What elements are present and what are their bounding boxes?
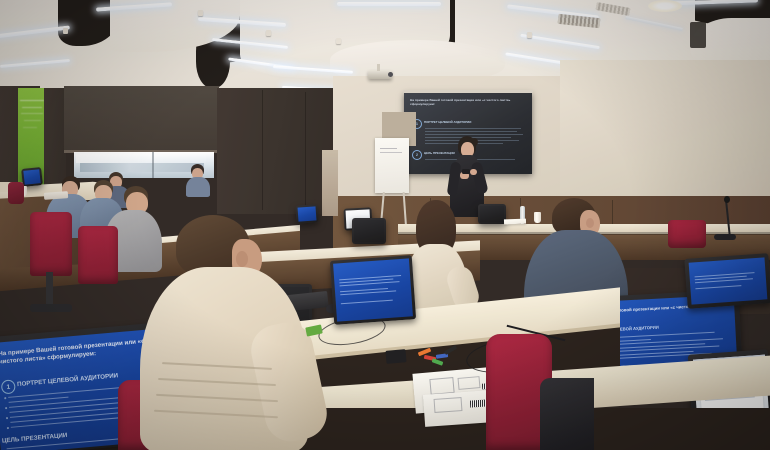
presenter-phone[interactable]	[462, 169, 470, 174]
slide-bullet-left-3	[6, 417, 8, 419]
flipchart-paper	[375, 138, 409, 193]
obj-phone[interactable]	[385, 349, 406, 364]
ceiling-sensor-2	[198, 10, 203, 16]
slide-bullet-left-1	[4, 397, 6, 399]
chair-left-2-base	[30, 304, 72, 312]
ceiling-sensor-4	[336, 38, 341, 44]
ceiling-sensor-3	[266, 30, 271, 36]
green-panel-reflection-1	[20, 100, 44, 101]
obj-microphone-base	[714, 234, 736, 240]
obj-papers-back	[504, 219, 526, 225]
training-room-photo: На примере Вашей готовой презентации или…	[0, 0, 770, 450]
projector-mount	[377, 64, 380, 71]
projection-body-line-3	[425, 134, 523, 135]
chair-left-2[interactable]	[30, 212, 72, 276]
green-panel-reflection-2	[22, 107, 42, 108]
slide-headline-mini	[693, 262, 759, 267]
projection-number-2: 2	[412, 150, 422, 160]
wall-left-dark-3	[217, 88, 335, 214]
flipchart-note-line-2	[380, 152, 402, 153]
projection-headline: На примере Вашей готовой презентации или…	[410, 98, 526, 106]
person-front-cream	[140, 215, 320, 450]
slide-bullet-left-2	[5, 407, 7, 409]
projection-body-line-1	[425, 128, 521, 129]
window-glare	[76, 154, 206, 163]
mon-left-small-screen	[23, 169, 40, 185]
roller-blind[interactable]	[64, 86, 219, 152]
obj-microphone-head	[724, 196, 730, 203]
mon-front-right-screen	[333, 258, 413, 321]
person-back-window-1	[186, 164, 210, 194]
green-panel-reflection-3	[21, 113, 43, 114]
slide-headline-left: На примере Вашей готовой презентации или…	[0, 338, 149, 367]
wall-corner-dark	[690, 22, 706, 48]
ceiling-downlight	[648, 0, 682, 12]
flipchart-note-line-1	[380, 148, 397, 149]
chair-left-1[interactable]	[8, 182, 24, 204]
ceiling-sensor-5	[527, 32, 532, 38]
ceiling-sensor-1	[63, 28, 68, 34]
slide-rt-line-6	[341, 300, 393, 305]
projection-body-line-2	[425, 131, 517, 132]
slide-mini-line-4	[695, 285, 741, 289]
projector-lens-icon	[388, 72, 393, 77]
person-ear-icon	[586, 218, 594, 228]
wall-seam-1	[262, 90, 263, 210]
projection-screen-frame	[403, 90, 533, 93]
mon-far-right-screen	[689, 257, 768, 304]
window-mullion	[152, 152, 154, 178]
wall-column-left	[322, 150, 338, 216]
presenter-hand-icon-2	[470, 169, 477, 175]
chair-right-2[interactable]	[668, 220, 706, 248]
person-torso	[186, 177, 210, 197]
handout-sketch-3	[434, 397, 463, 413]
green-panel-reflection-5	[23, 127, 37, 128]
mon-back-small-screen	[480, 206, 504, 222]
chair-left-2-stem	[46, 272, 53, 308]
slide-headline-right	[337, 263, 403, 268]
projection-heading-1: ПОРТРЕТ ЦЕЛЕВОЙ АУДИТОРИИ	[424, 120, 524, 124]
green-panel-reflection-4	[24, 120, 41, 121]
slide-bullet-left-4	[7, 427, 9, 429]
person-ear-icon	[236, 251, 248, 267]
light-tube-10	[337, 2, 441, 6]
chair-left-3[interactable]	[78, 226, 118, 284]
slide-number-1-left: 1	[1, 379, 16, 394]
handout-sketch-2	[458, 376, 481, 390]
wall-seam-2	[305, 92, 306, 207]
mon-mid-3-screen	[354, 220, 384, 242]
person-right-leg	[540, 378, 594, 450]
